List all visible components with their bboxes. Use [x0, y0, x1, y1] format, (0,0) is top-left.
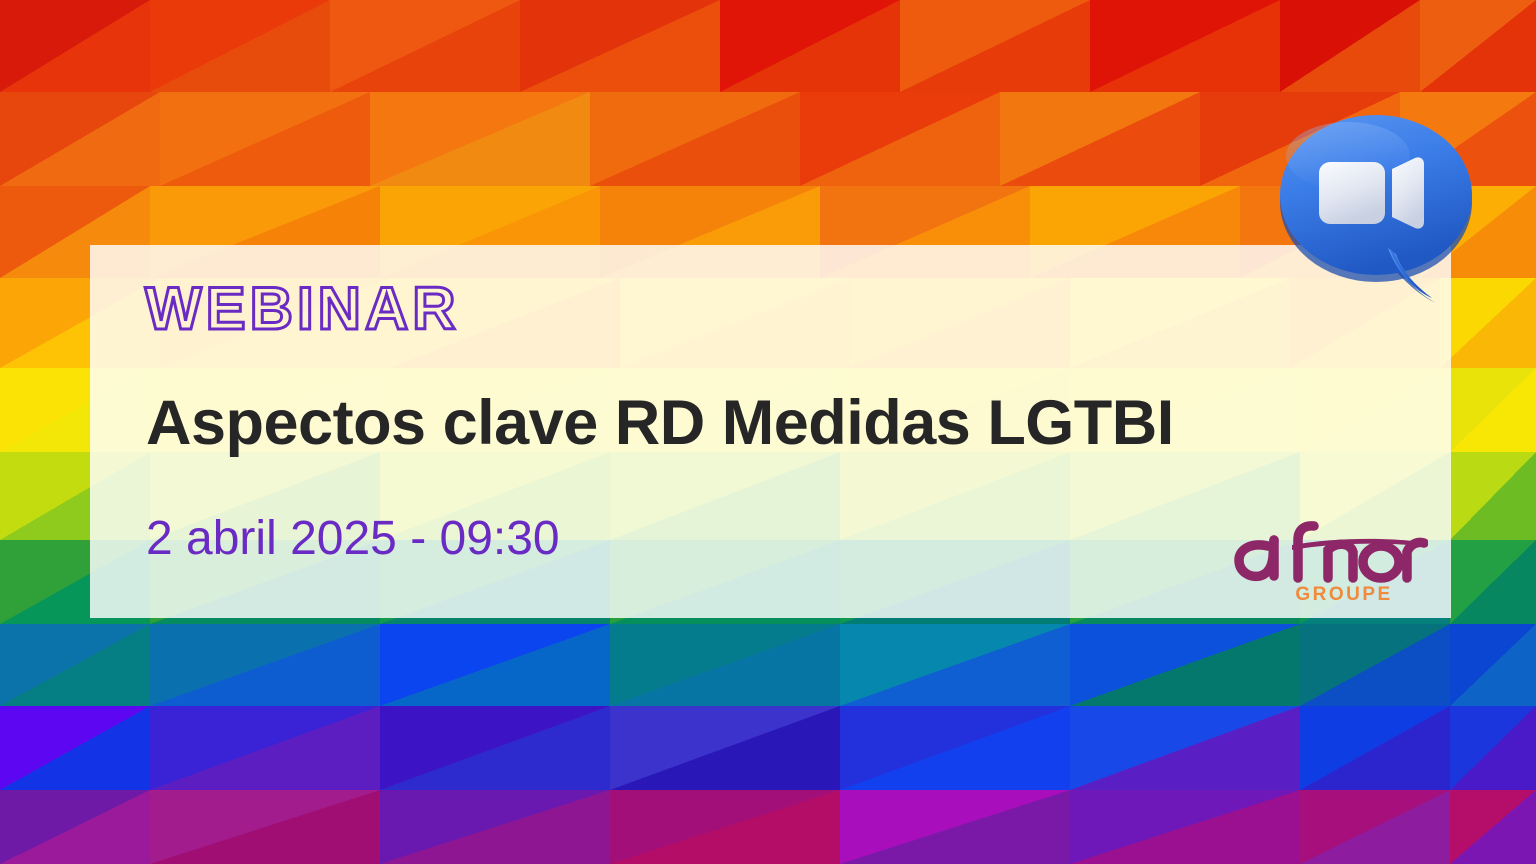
webinar-kicker: WEBINAR — [145, 279, 460, 339]
afnor-groupe-label: GROUPE — [1295, 584, 1392, 604]
video-camera-lens — [1392, 157, 1424, 228]
afnor-wordmark — [1239, 526, 1424, 578]
event-datetime: 2 abril 2025 - 09:30 — [146, 513, 560, 566]
page-title: Aspectos clave RD Medidas LGTBI — [146, 390, 1174, 456]
video-camera-icon — [1319, 162, 1385, 224]
video-chat-bubble-icon — [1272, 112, 1488, 312]
afnor-crossbar — [1292, 539, 1422, 550]
afnor-logo: GROUPE — [1232, 512, 1428, 604]
webinar-banner: WEBINAR Aspectos clave RD Medidas LGTBI … — [0, 0, 1536, 864]
